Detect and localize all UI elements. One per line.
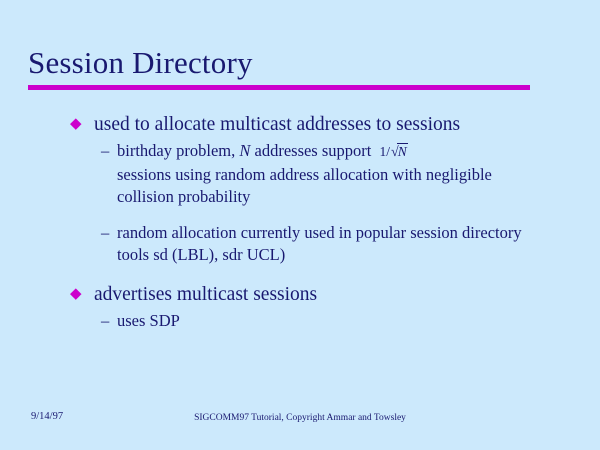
slide-canvas: Session Directory ◆ used to allocate mul… [0,0,600,450]
diamond-bullet-icon: ◆ [70,282,82,307]
bullet-item-1: ◆ used to allocate multicast addresses t… [0,112,600,137]
math-numerator: 1/ [379,144,390,159]
bullet-item-2: ◆ advertises multicast sessions [0,282,600,307]
footer-credit: SIGCOMM97 Tutorial, Copyright Ammar and … [0,411,600,425]
bullet-2-label: advertises multicast sessions [94,284,317,305]
bullet-1-label: used to allocate multicast addresses to … [94,114,460,135]
sub-bullet-1-1-continuation: sessions using random address allocation… [117,164,537,208]
sub-bullet-item-1-2: – random allocation currently used in po… [0,222,600,266]
sub-bullet-1-1-text-before-math: birthday problem, [117,141,239,160]
title-underline-rule [28,85,530,90]
math-expression-one-over-sqrt-n: 1/√N [375,144,407,159]
title-block: Session Directory [28,44,538,82]
sub-bullet-item-1-1: – birthday problem, N addresses support … [0,140,600,208]
en-dash-bullet-icon: – [101,310,109,332]
sub-bullet-2-1-label: uses SDP [117,310,537,332]
math-variable-n: N [239,141,250,160]
sub-bullet-1-1-text-after-var: addresses support [250,141,375,160]
sub-bullet-1-1-line-1: birthday problem, N addresses support 1/… [117,140,537,164]
en-dash-bullet-icon: – [101,222,109,244]
page-title: Session Directory [28,44,538,82]
sub-bullet-1-2-label: random allocation currently used in popu… [117,222,537,266]
math-radicand: N [397,143,408,159]
en-dash-bullet-icon: – [101,140,109,162]
sub-bullet-item-2-1: – uses SDP [0,310,600,332]
slide-body: ◆ used to allocate multicast addresses t… [0,112,600,332]
math-radical: √N [390,141,408,164]
diamond-bullet-icon: ◆ [70,112,82,137]
